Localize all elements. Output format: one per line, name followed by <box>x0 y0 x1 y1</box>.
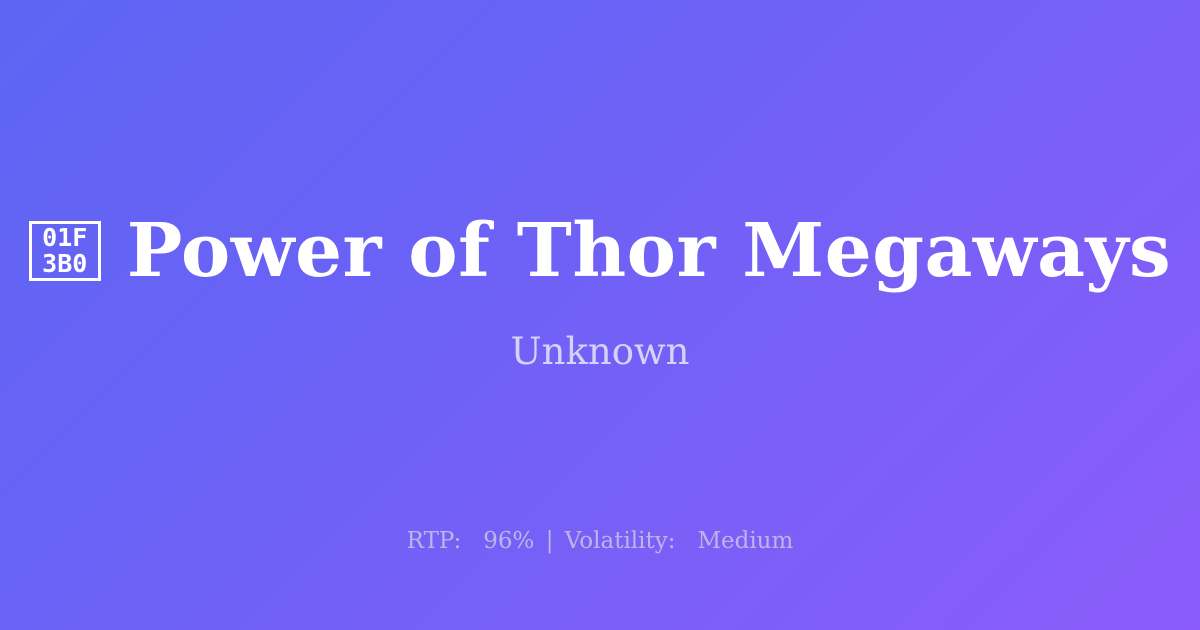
rtp-label: RTP: <box>407 528 462 554</box>
hero-block: 01F 3B0 Power of Thor Megaways Unknown <box>0 212 1200 373</box>
volatility-value: Medium <box>697 528 793 554</box>
page-title: Power of Thor Megaways <box>127 212 1171 290</box>
game-og-card: 01F 3B0 Power of Thor Megaways Unknown R… <box>0 0 1200 630</box>
provider-name: Unknown <box>510 332 689 373</box>
rtp-value: 96% <box>483 528 534 554</box>
slot-machine-icon-codepoint-low: 3B0 <box>42 251 87 277</box>
slot-machine-icon: 01F 3B0 <box>29 221 101 281</box>
title-row: 01F 3B0 Power of Thor Megaways <box>0 212 1200 290</box>
game-meta-line: RTP: 96% | Volatility: Medium <box>0 528 1200 556</box>
volatility-label: Volatility: <box>565 528 676 554</box>
meta-separator: | <box>542 528 558 554</box>
slot-machine-icon-codepoint-high: 01F <box>42 225 87 251</box>
